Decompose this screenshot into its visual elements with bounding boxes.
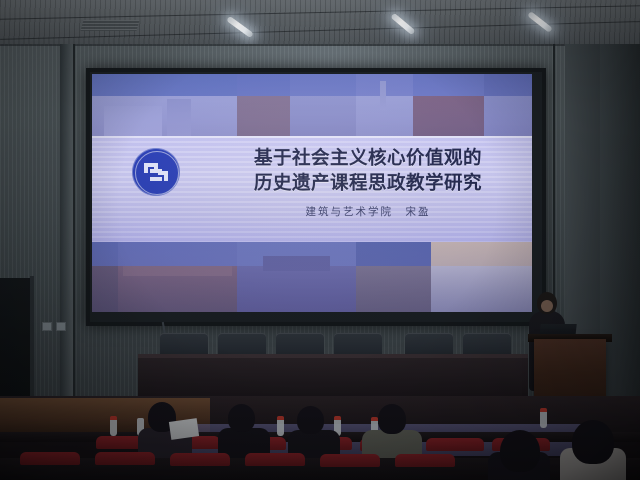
wall-corner-right [600,44,640,396]
paper-handout [169,418,199,440]
audience-seat [20,452,80,465]
university-emblem-icon [132,148,180,196]
photo-stone-column-capital [484,74,532,140]
slide-top-photo-strip [92,74,532,140]
photo-strip-edge [92,242,118,312]
lecture-hall-photo: 基于社会主义核心价值观的 历史遗产课程思政教学研究 建筑与艺术学院 宋盈 [0,0,640,480]
attendee-foreground-right-head [572,420,614,464]
photo-grand-hall-pavilion [237,242,356,312]
wall-switch[interactable] [42,322,52,331]
water-bottle [110,418,117,436]
ceiling-air-vent [80,20,139,31]
emblem-knot [144,160,168,184]
photo-traditional-courtyard-roofs [118,242,237,312]
audience-seat [320,454,380,467]
photo-gate-tower-pavilion [356,242,431,312]
bottle-cap [371,417,378,421]
photo-clock-tower-church [356,74,413,140]
attendee-grey-shirt-head [378,404,406,434]
audience-seat [395,454,455,467]
photo-brick-gothic-hall [237,74,290,140]
bottle-cap [540,408,547,412]
water-bottle [540,410,547,428]
photo-city-street-highrise [290,74,356,140]
audience-seat [426,438,484,451]
bottle-cap [334,416,341,420]
wall-switch[interactable] [56,322,66,331]
audience-seat [95,452,155,465]
slide-title-line-1: 基于社会主义核心价值观的 [218,146,518,171]
slide-title-line-2: 历史遗产课程思政教学研究 [218,171,518,196]
attendee-foreground-left-head [500,430,540,472]
photo-red-brick-temple-roof [413,74,483,140]
water-bottle [277,418,284,436]
attendee-dark-top-head [228,404,255,432]
photo-western-classical-facade [431,242,532,312]
slide-title: 基于社会主义核心价值观的 历史遗产课程思政教学研究 [218,146,518,196]
slide-bottom-photo-strip [92,242,532,312]
pillar-seam-left [73,44,75,396]
panel-table [138,358,528,400]
bottle-cap [110,416,117,420]
wall-pillar-left [60,44,73,396]
audience-seat [170,453,230,466]
photo-bund-colonial-building [92,74,237,140]
bottle-cap [277,416,284,420]
presenter-face [541,300,553,312]
slide-subtitle: 建筑与艺术学院 宋盈 [218,204,518,219]
audience-seat [245,453,305,466]
attendee-center-head [297,406,324,434]
projection-screen[interactable]: 基于社会主义核心价值观的 历史遗产课程思政教学研究 建筑与艺术学院 宋盈 [92,74,532,312]
